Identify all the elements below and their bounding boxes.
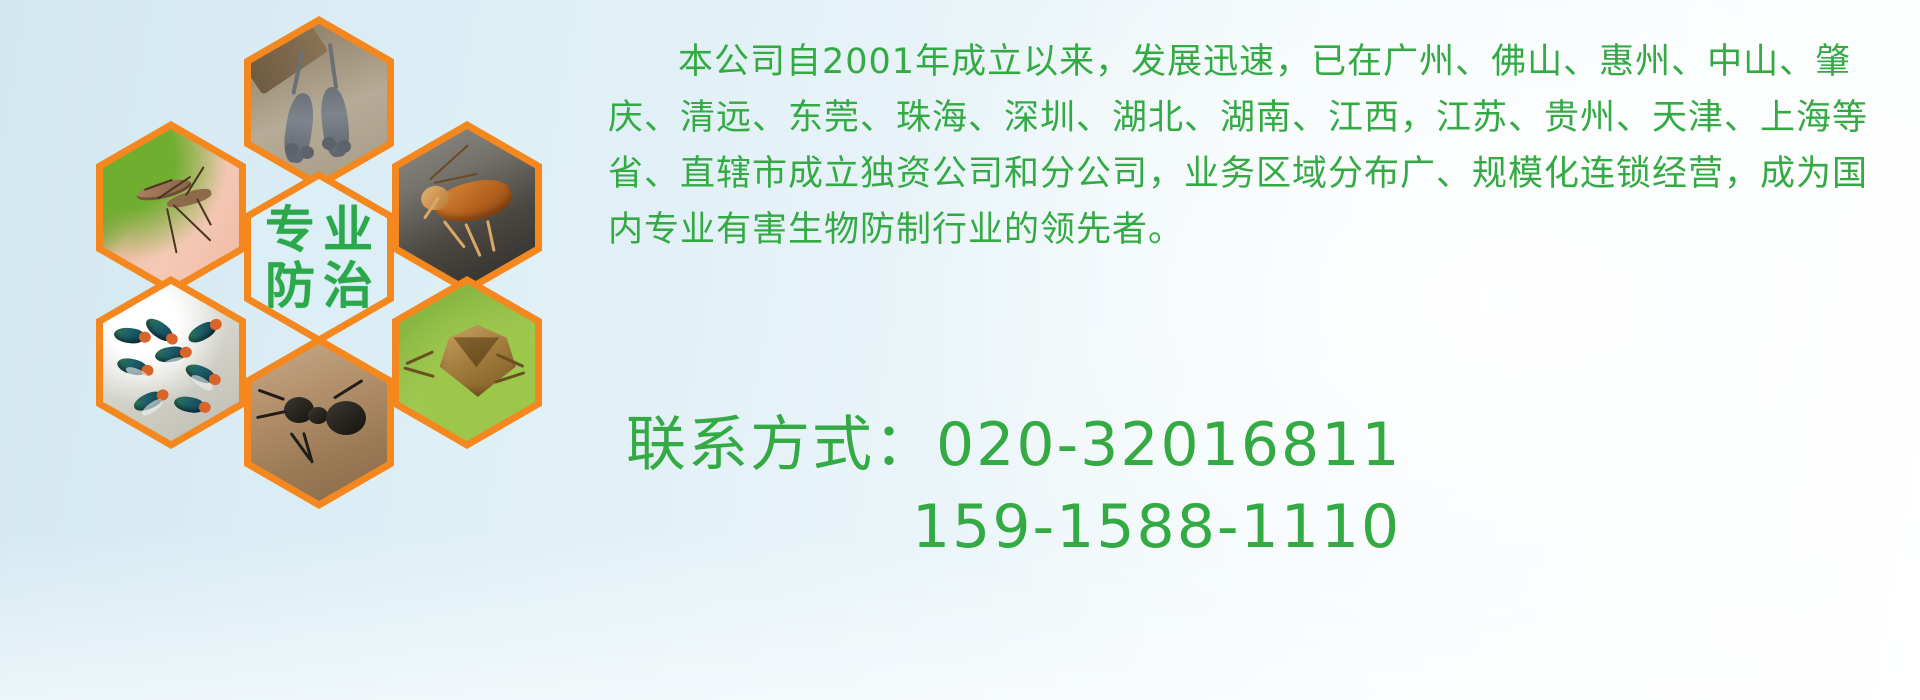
hex-cell-ant[interactable] bbox=[244, 336, 394, 509]
stink-bug-photo bbox=[399, 284, 535, 441]
mosquito-photo bbox=[103, 129, 239, 286]
honeycomb-cluster: 专业 防治 bbox=[96, 16, 576, 546]
ant-photo bbox=[251, 344, 387, 501]
contact-landline-line[interactable]: 联系方式：020-32016811 bbox=[626, 404, 1920, 486]
hex-cell-mosquito[interactable] bbox=[96, 121, 246, 294]
center-slogan: 专业 防治 bbox=[257, 202, 381, 314]
hex-cell-cockroach[interactable] bbox=[392, 121, 542, 294]
hex-cell-center-label: 专业 防治 bbox=[244, 171, 394, 344]
hex-cell-rats[interactable] bbox=[244, 16, 394, 189]
cockroach-photo bbox=[399, 129, 535, 286]
flies-photo bbox=[103, 284, 239, 441]
center-slogan-line1: 专业 bbox=[257, 202, 381, 258]
center-slogan-line2: 防治 bbox=[257, 258, 381, 314]
contact-block: 联系方式：020-32016811 159-1588-1110 bbox=[626, 404, 1920, 568]
hex-cell-flies[interactable] bbox=[96, 276, 246, 449]
company-intro-paragraph: 本公司自2001年成立以来，发展迅速，已在广州、佛山、惠州、中山、肇庆、清远、东… bbox=[608, 34, 1896, 258]
rats-photo bbox=[251, 24, 387, 181]
hex-cell-stink-bug[interactable] bbox=[392, 276, 542, 449]
copy-column: 本公司自2001年成立以来，发展迅速，已在广州、佛山、惠州、中山、肇庆、清远、东… bbox=[608, 34, 1900, 258]
contact-mobile-line[interactable]: 159-1588-1110 bbox=[626, 486, 1920, 568]
promo-banner: 专业 防治 本公司自2001年成立以来，发展迅速，已在广州、佛山、惠州、中山、肇… bbox=[0, 0, 1920, 700]
